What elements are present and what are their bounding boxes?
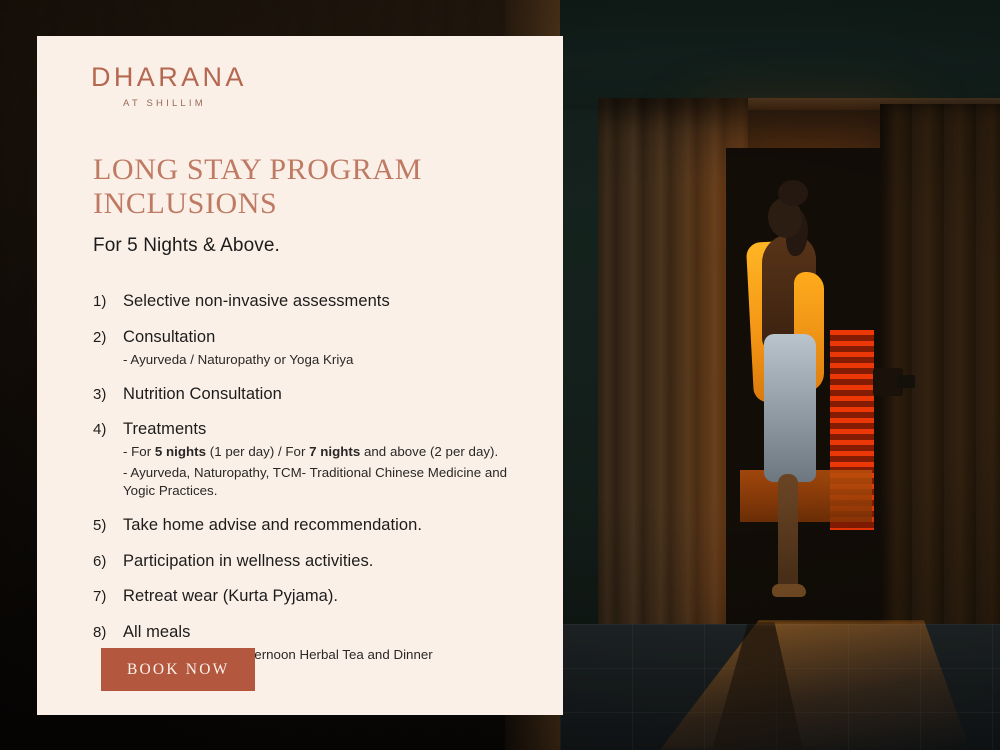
list-item-title: Retreat wear (Kurta Pyjama). <box>123 586 533 608</box>
list-item-title: Participation in wellness activities. <box>123 551 533 573</box>
list-item-number: 3) <box>93 384 123 406</box>
list-item: 2) Consultation - Ayurveda / Naturopathy… <box>93 327 533 369</box>
page-title-line-2: INCLUSIONS <box>93 187 533 221</box>
list-item: 3) Nutrition Consultation <box>93 384 533 406</box>
page-title: LONG STAY PROGRAM INCLUSIONS <box>93 153 533 221</box>
list-item-subline: - Ayurveda, Naturopathy, TCM- Traditiona… <box>123 464 533 501</box>
list-item-title: Take home advise and recommendation. <box>123 515 533 537</box>
promo-poster: DHARANA AT SHILLIM LONG STAY PROGRAM INC… <box>0 0 1000 750</box>
list-item-number: 5) <box>93 515 123 537</box>
list-item-title: All meals <box>123 622 533 644</box>
inclusions-list: 1) Selective non-invasive assessments 2)… <box>93 291 533 664</box>
list-item: 4) Treatments - For 5 nights (1 per day)… <box>93 419 533 501</box>
list-item-title: Selective non-invasive assessments <box>123 291 533 313</box>
inclusions-card: DHARANA AT SHILLIM LONG STAY PROGRAM INC… <box>37 36 563 715</box>
list-item: 1) Selective non-invasive assessments <box>93 291 533 313</box>
list-item-title: Consultation <box>123 327 533 349</box>
list-item-title: Nutrition Consultation <box>123 384 533 406</box>
list-item: 6) Participation in wellness activities. <box>93 551 533 573</box>
list-item-number: 2) <box>93 327 123 369</box>
list-item-title: Treatments <box>123 419 533 441</box>
book-now-button[interactable]: BOOK NOW <box>101 648 255 691</box>
list-item: 7) Retreat wear (Kurta Pyjama). <box>93 586 533 608</box>
page-subtitle: For 5 Nights & Above. <box>93 235 533 257</box>
list-item-number: 6) <box>93 551 123 573</box>
list-item: 5) Take home advise and recommendation. <box>93 515 533 537</box>
list-item-number: 7) <box>93 586 123 608</box>
list-item-number: 1) <box>93 291 123 313</box>
page-title-line-1: LONG STAY PROGRAM <box>93 153 422 186</box>
list-item-subline: - For 5 nights (1 per day) / For 7 night… <box>123 443 533 462</box>
list-item-subline: - Ayurveda / Naturopathy or Yoga Kriya <box>123 351 533 370</box>
list-item-number: 4) <box>93 419 123 501</box>
brand-logo: DHARANA AT SHILLIM <box>91 62 533 109</box>
brand-name: DHARANA <box>91 62 533 93</box>
brand-tagline: AT SHILLIM <box>91 98 533 109</box>
